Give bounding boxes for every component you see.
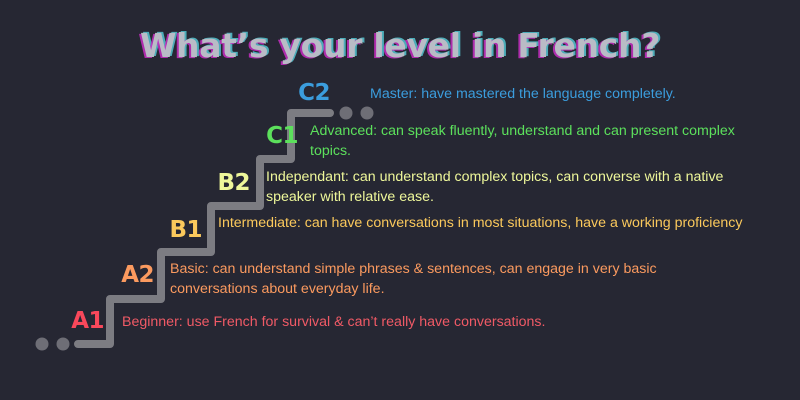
infographic-root: What’s your level in French? A1 Beginner… <box>0 0 800 400</box>
deco-dot-bottom-1 <box>36 338 49 351</box>
level-code-a1: A1 <box>62 310 104 333</box>
level-code-a2: A2 <box>110 264 154 287</box>
level-description-b2: Independant: can understand complex topi… <box>266 168 761 207</box>
level-description-a2: Basic: can understand simple phrases & s… <box>170 260 740 299</box>
deco-dot-top-2 <box>361 107 374 120</box>
page-title: What’s your level in French? <box>0 26 800 65</box>
deco-dot-bottom-2 <box>57 338 70 351</box>
level-code-c2: C2 <box>286 82 330 105</box>
level-description-a1: Beginner: use French for survival & can’… <box>122 313 682 333</box>
level-description-b1: Intermediate: can have conversations in … <box>218 214 758 234</box>
level-code-b2: B2 <box>206 172 250 195</box>
level-code-b1: B1 <box>158 219 202 242</box>
level-code-c1: C1 <box>254 125 298 148</box>
deco-dot-top-1 <box>340 107 353 120</box>
level-description-c1: Advanced: can speak fluently, understand… <box>310 122 740 161</box>
level-description-c2: Master: have mastered the language compl… <box>370 85 790 105</box>
